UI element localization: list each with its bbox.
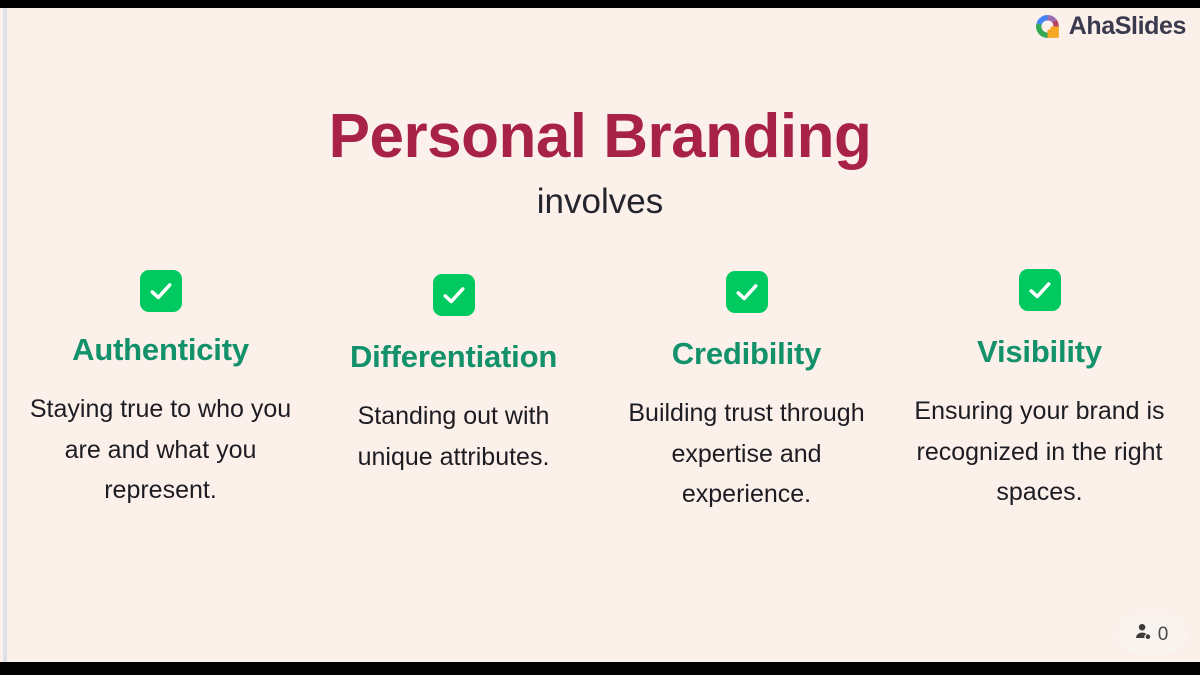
headline-block: Personal Branding involves [0, 104, 1200, 222]
letterbox-bottom [0, 662, 1200, 675]
ahaslides-wordmark: AhaSlides [1069, 14, 1186, 39]
answer-title: Visibility [977, 335, 1102, 369]
answer-description: Standing out with unique attributes. [338, 396, 570, 477]
presentation-viewport: AhaSlides Personal Branding involves Aut… [0, 0, 1200, 675]
ahaslides-logo-icon [1034, 13, 1061, 40]
ahaslides-brand: AhaSlides [1034, 13, 1186, 40]
answer-column-visibility: Visibility Ensuring your brand is recogn… [893, 270, 1186, 513]
slide-canvas: AhaSlides Personal Branding involves Aut… [0, 8, 1200, 662]
check-square-icon [1019, 269, 1061, 311]
person-icon [1134, 622, 1153, 646]
answer-title: Authenticity [72, 333, 249, 367]
check-square-icon [726, 271, 768, 313]
answer-description: Staying true to who you are and what you… [26, 389, 296, 511]
letterbox-top [0, 0, 1200, 8]
answer-title: Credibility [672, 337, 821, 371]
answer-column-credibility: Credibility Building trust through exper… [600, 270, 893, 515]
check-square-icon [140, 270, 182, 312]
answer-column-authenticity: Authenticity Staying true to who you are… [14, 270, 307, 511]
participant-counter[interactable]: 0 [1118, 614, 1186, 654]
slide-title: Personal Branding [0, 104, 1200, 169]
answer-description: Building trust through expertise and exp… [613, 393, 881, 515]
answer-column-differentiation: Differentiation Standing out with unique… [307, 270, 600, 477]
answer-description: Ensuring your brand is recognized in the… [904, 391, 1176, 513]
participant-count: 0 [1158, 625, 1169, 644]
answer-title: Differentiation [350, 340, 557, 374]
slide-subtitle: involves [0, 183, 1200, 222]
answer-columns: Authenticity Staying true to who you are… [14, 270, 1186, 515]
check-square-icon [433, 274, 475, 316]
slide-left-edge-strip [3, 8, 7, 662]
